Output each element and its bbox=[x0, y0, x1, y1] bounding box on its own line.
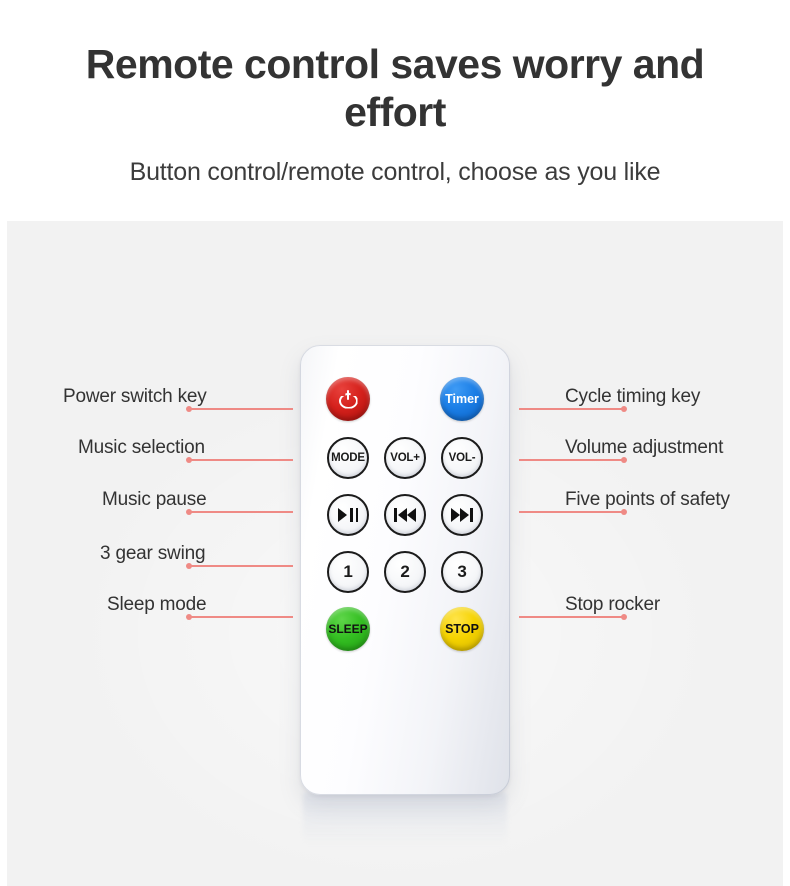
play-pause-icon bbox=[338, 508, 359, 522]
preset-3-button[interactable]: 3 bbox=[441, 551, 483, 593]
power-icon bbox=[339, 390, 358, 409]
callout-dot-stop-rocker bbox=[621, 614, 627, 620]
callout-label-3-gear-swing: 3 gear swing bbox=[100, 543, 205, 565]
preset-1-button[interactable]: 1 bbox=[327, 551, 369, 593]
mode-button[interactable]: MODE bbox=[327, 437, 369, 479]
callout-dot-music-selection bbox=[186, 457, 192, 463]
stop-button[interactable]: STOP bbox=[440, 607, 484, 651]
product-infographic: Remote control saves worry and effort Bu… bbox=[0, 0, 790, 886]
remote-control-body: Timer MODE VOL+ VOL- 1 bbox=[300, 345, 510, 795]
callout-line-cycle-timing-key bbox=[519, 408, 624, 410]
callout-label-cycle-timing-key: Cycle timing key bbox=[565, 386, 700, 408]
callout-dot-sleep-mode bbox=[186, 614, 192, 620]
next-track-icon bbox=[451, 508, 473, 522]
callout-dot-volume-adjustment bbox=[621, 457, 627, 463]
header-band: Remote control saves worry and effort Bu… bbox=[0, 0, 790, 221]
preset-2-button[interactable]: 2 bbox=[384, 551, 426, 593]
product-photo-panel: Timer MODE VOL+ VOL- 1 bbox=[7, 221, 783, 886]
volume-up-button[interactable]: VOL+ bbox=[384, 437, 426, 479]
callout-label-stop-rocker: Stop rocker bbox=[565, 594, 660, 616]
callout-line-five-points-of-safety bbox=[519, 511, 624, 513]
callout-label-power-switch-key: Power switch key bbox=[63, 386, 207, 408]
callout-line-music-selection bbox=[188, 459, 293, 461]
previous-track-button[interactable] bbox=[384, 494, 426, 536]
callout-dot-3-gear-swing bbox=[186, 563, 192, 569]
power-button[interactable] bbox=[326, 377, 370, 421]
page-title: Remote control saves worry and effort bbox=[50, 40, 740, 136]
callout-line-music-pause bbox=[188, 511, 293, 513]
callout-line-stop-rocker bbox=[519, 616, 624, 618]
callout-dot-five-points-of-safety bbox=[621, 509, 627, 515]
callout-line-volume-adjustment bbox=[519, 459, 624, 461]
callout-dot-cycle-timing-key bbox=[621, 406, 627, 412]
callout-dot-power-switch-key bbox=[186, 406, 192, 412]
callout-line-sleep-mode bbox=[188, 616, 293, 618]
callout-label-music-selection: Music selection bbox=[78, 437, 205, 459]
page-subtitle: Button control/remote control, choose as… bbox=[40, 152, 750, 192]
callout-line-3-gear-swing bbox=[188, 565, 293, 567]
callout-label-sleep-mode: Sleep mode bbox=[107, 594, 206, 616]
play-pause-button[interactable] bbox=[327, 494, 369, 536]
remote-reflection bbox=[303, 793, 507, 853]
volume-down-button[interactable]: VOL- bbox=[441, 437, 483, 479]
next-track-button[interactable] bbox=[441, 494, 483, 536]
callout-dot-music-pause bbox=[186, 509, 192, 515]
sleep-button[interactable]: SLEEP bbox=[326, 607, 370, 651]
previous-track-icon bbox=[394, 508, 416, 522]
timer-button[interactable]: Timer bbox=[440, 377, 484, 421]
callout-label-five-points-of-safety: Five points of safety bbox=[565, 489, 730, 511]
callout-label-volume-adjustment: Volume adjustment bbox=[565, 437, 723, 459]
callout-label-music-pause: Music pause bbox=[102, 489, 206, 511]
callout-line-power-switch-key bbox=[188, 408, 293, 410]
